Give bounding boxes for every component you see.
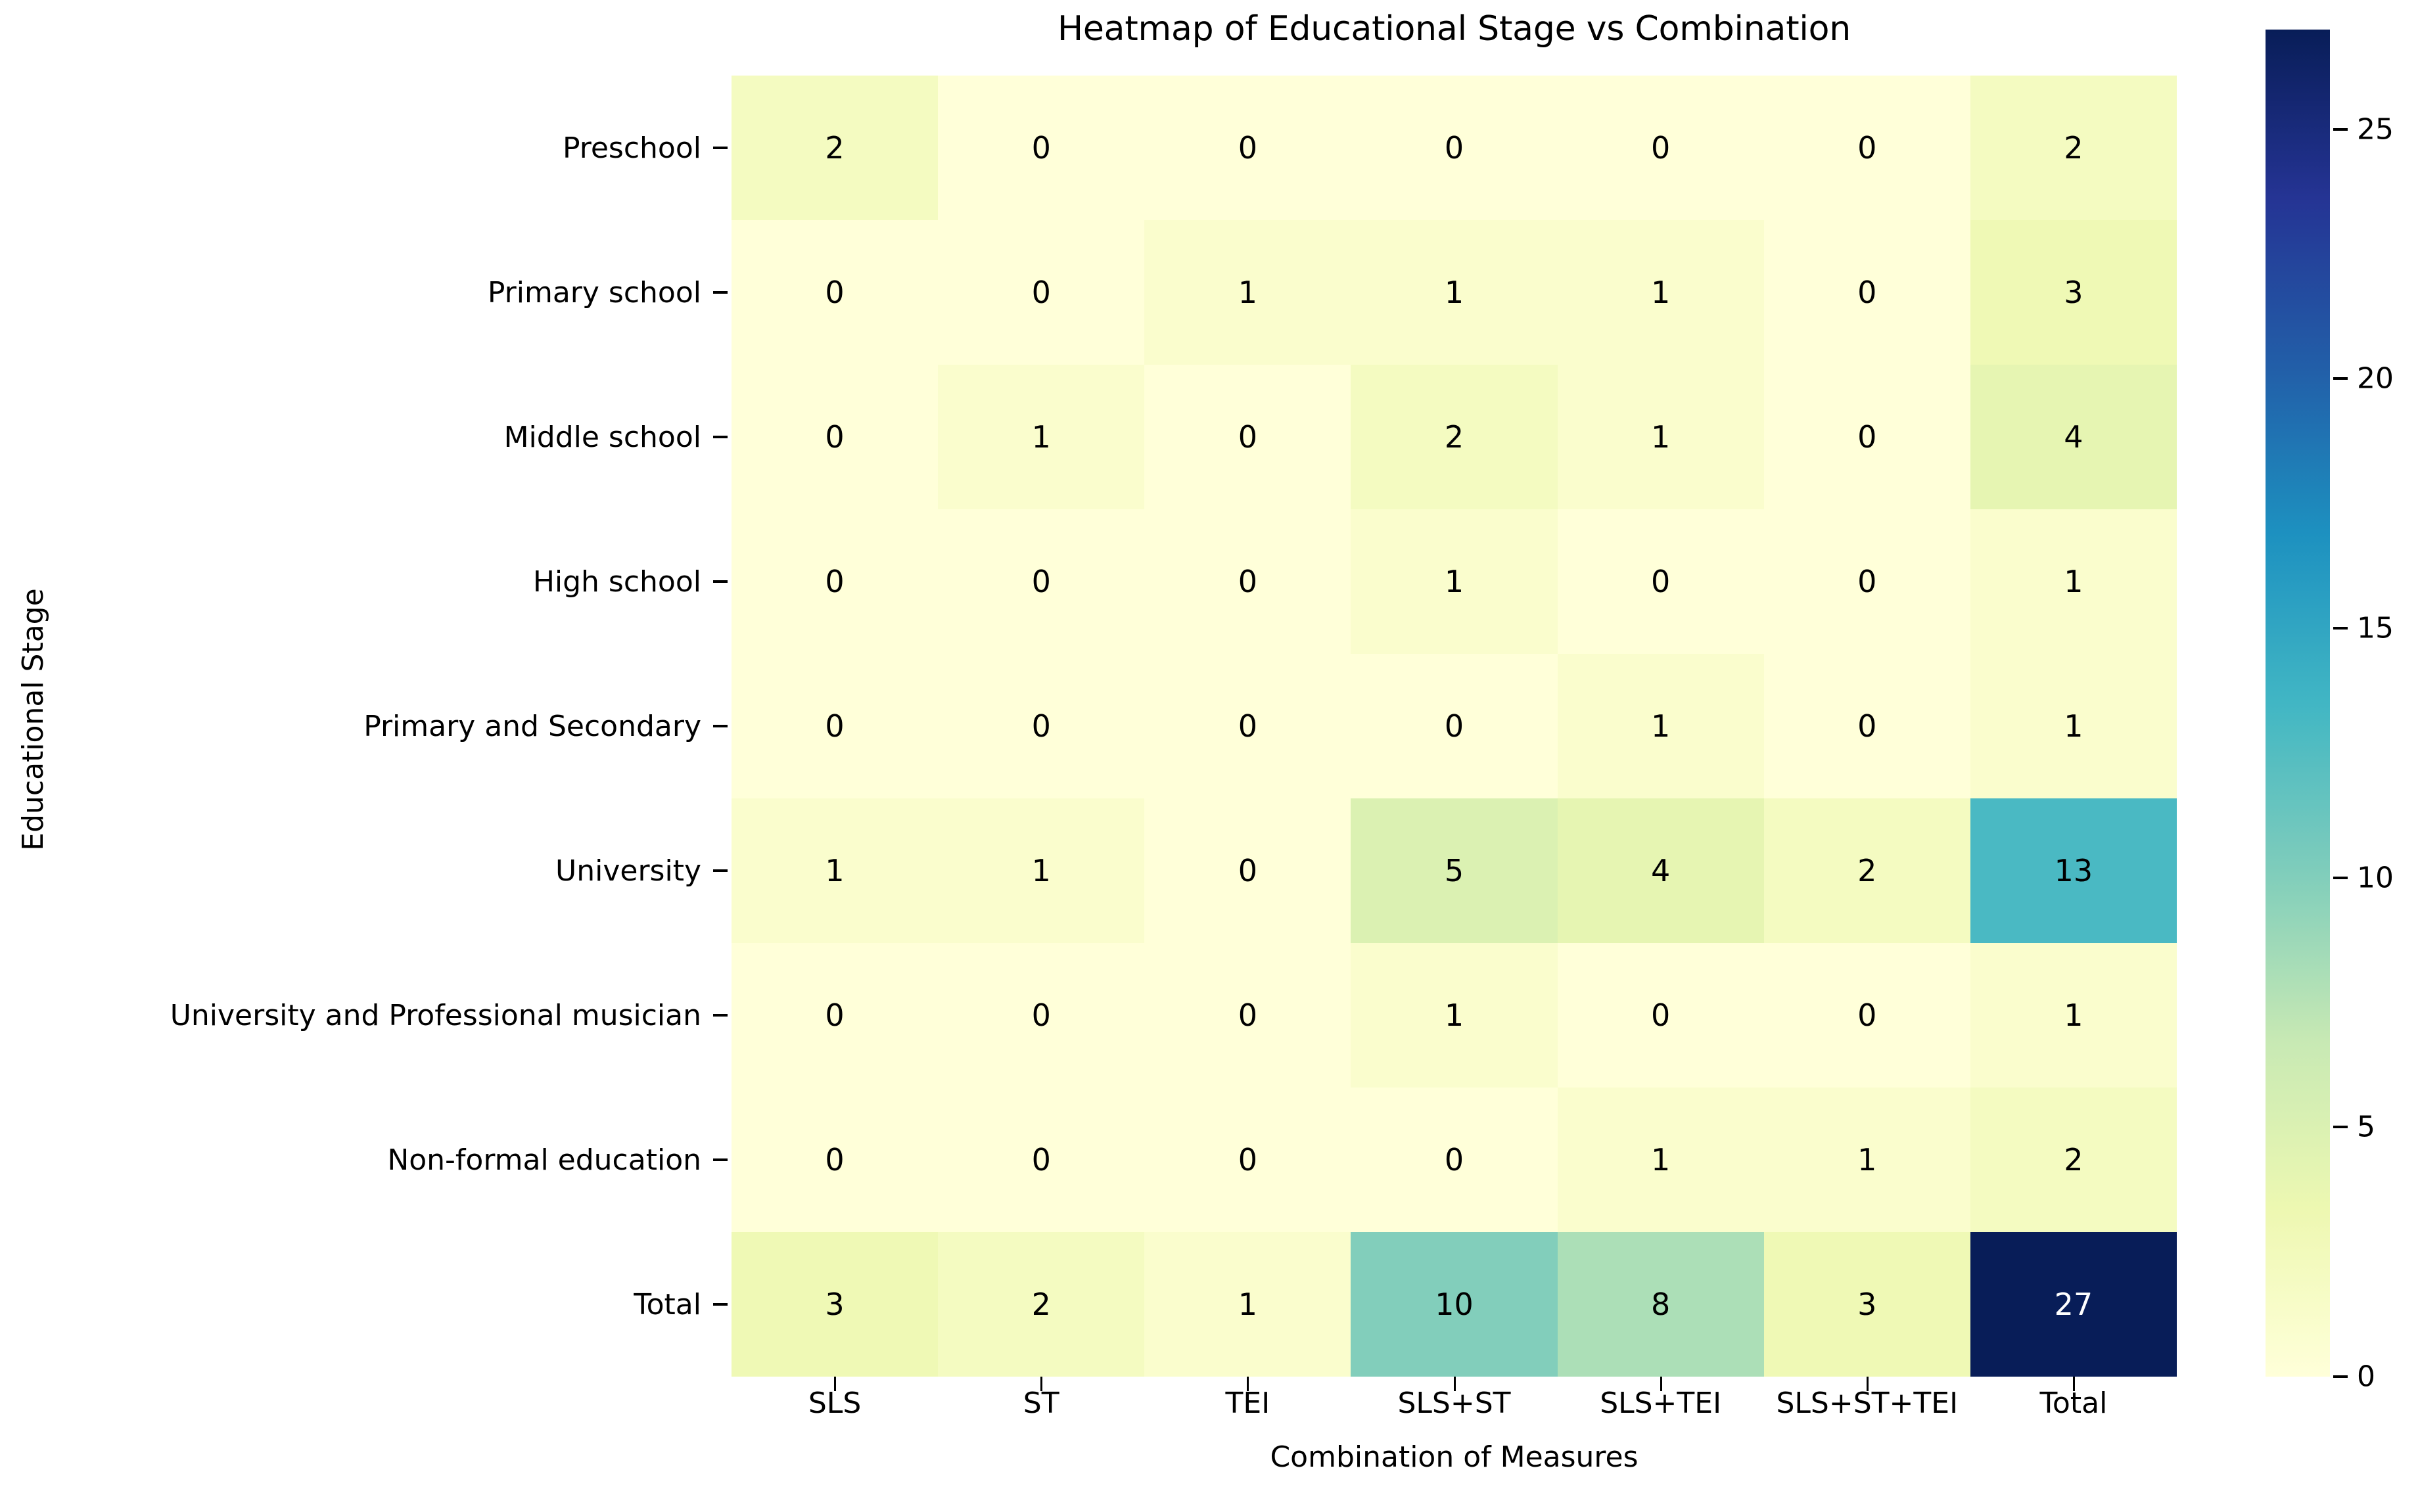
heatmap-cell: 0 — [1144, 76, 1351, 220]
heatmap-cell: 0 — [1144, 1088, 1351, 1232]
heatmap-cell: 5 — [1351, 798, 1557, 943]
heatmap-cell: 0 — [1144, 943, 1351, 1088]
page-title: Heatmap of Educational Stage vs Combinat… — [732, 9, 2177, 49]
y-tick-label: University and Professional musician — [170, 943, 718, 1088]
heatmap-cell: 0 — [1764, 943, 1970, 1088]
y-axis-title-wrapper: Educational Stage — [13, 450, 53, 989]
heatmap-cell: 1 — [1558, 1088, 1764, 1232]
colorbar-tick-label: 25 — [2357, 112, 2394, 146]
heatmap-cell: 0 — [938, 76, 1144, 220]
heatmap-cell: 0 — [1764, 220, 1970, 365]
colorbar-tick-label: 5 — [2357, 1111, 2375, 1144]
y-tick-mark — [713, 725, 728, 727]
x-tick-label: SLS+ST — [1351, 1386, 1558, 1420]
heatmap-cell: 1 — [1558, 654, 1764, 798]
x-tick-label: SLS — [732, 1386, 938, 1420]
heatmap-cell: 1 — [1144, 1232, 1351, 1377]
heatmap-cell: 2 — [938, 1232, 1144, 1377]
heatmap-cell: 0 — [732, 365, 938, 509]
colorbar-tick-mark — [2333, 877, 2348, 879]
colorbar — [2266, 30, 2330, 1377]
heatmap-cell: 0 — [1764, 509, 1970, 654]
y-tick-mark — [713, 291, 728, 294]
heatmap-grid: 2000002001110301021040001001000010111054… — [732, 76, 2177, 1377]
heatmap-cell: 1 — [1351, 220, 1557, 365]
y-tick-label: Primary and Secondary — [363, 654, 718, 798]
heatmap-cell: 1 — [1970, 654, 2177, 798]
colorbar-tick-mark — [2333, 1375, 2348, 1378]
heatmap-cell: 0 — [1764, 365, 1970, 509]
heatmap-cell: 0 — [1351, 76, 1557, 220]
heatmap-cell: 0 — [1144, 365, 1351, 509]
heatmap-cell: 0 — [732, 654, 938, 798]
y-tick-label: Non-formal education — [387, 1088, 718, 1232]
x-tick-label: SLS+TEI — [1558, 1386, 1764, 1420]
x-tick-label: ST — [938, 1386, 1144, 1420]
colorbar-tick-label: 15 — [2357, 612, 2394, 645]
heatmap-cell: 3 — [732, 1232, 938, 1377]
heatmap-cell: 8 — [1558, 1232, 1764, 1377]
heatmap-cell: 1 — [732, 798, 938, 943]
heatmap-cell: 0 — [1351, 654, 1557, 798]
heatmap-cell: 1 — [1970, 509, 2177, 654]
y-tick-label: Preschool — [563, 76, 718, 220]
y-tick-label: Total — [634, 1232, 718, 1377]
x-tick-mark — [1454, 1377, 1456, 1391]
heatmap-cell: 0 — [938, 943, 1144, 1088]
colorbar-tick-label: 10 — [2357, 861, 2394, 894]
heatmap-cell: 4 — [1970, 365, 2177, 509]
colorbar-tick-mark — [2333, 377, 2348, 380]
heatmap-cell: 2 — [1351, 365, 1557, 509]
heatmap-cell: 2 — [1970, 1088, 2177, 1232]
y-axis-title: Educational Stage — [16, 588, 50, 850]
heatmap-cell: 0 — [1144, 654, 1351, 798]
x-tick-mark — [1247, 1377, 1249, 1391]
heatmap-cell: 1 — [938, 798, 1144, 943]
heatmap-cell: 1 — [1764, 1088, 1970, 1232]
heatmap-cell: 0 — [1764, 76, 1970, 220]
x-tick-mark — [1660, 1377, 1662, 1391]
heatmap-cell: 1 — [1558, 365, 1764, 509]
heatmap-cell: 2 — [1970, 76, 2177, 220]
colorbar-tick-label: 0 — [2357, 1360, 2375, 1394]
heatmap-cell: 0 — [938, 509, 1144, 654]
y-tick-mark — [713, 436, 728, 438]
heatmap-cell: 0 — [1558, 943, 1764, 1088]
heatmap-cell: 10 — [1351, 1232, 1557, 1377]
x-tick-mark — [2073, 1377, 2075, 1391]
heatmap-cell: 3 — [1764, 1232, 1970, 1377]
heatmap-cell: 1 — [1144, 220, 1351, 365]
heatmap-cell: 0 — [938, 1088, 1144, 1232]
x-tick-mark — [1040, 1377, 1042, 1391]
x-tick-label: SLS+ST+TEI — [1764, 1386, 1970, 1420]
y-tick-mark — [713, 1303, 728, 1306]
colorbar-tick-mark — [2333, 1126, 2348, 1128]
heatmap-cell: 0 — [1144, 798, 1351, 943]
y-tick-label: University — [555, 798, 718, 943]
y-tick-mark — [713, 147, 728, 149]
heatmap-cell: 0 — [1558, 509, 1764, 654]
y-tick-label: Middle school — [504, 365, 718, 509]
heatmap-cell: 0 — [1558, 76, 1764, 220]
heatmap-cell: 0 — [1144, 509, 1351, 654]
y-tick-label: High school — [533, 509, 718, 654]
colorbar-tick-mark — [2333, 128, 2348, 131]
colorbar-tick-mark — [2333, 627, 2348, 630]
x-axis-title: Combination of Measures — [732, 1440, 2177, 1474]
heatmap-cell: 0 — [1351, 1088, 1557, 1232]
heatmap-cell: 4 — [1558, 798, 1764, 943]
colorbar-tick-label: 20 — [2357, 362, 2394, 396]
heatmap-cell: 1 — [1970, 943, 2177, 1088]
x-tick-label: Total — [1970, 1386, 2177, 1420]
x-tick-mark — [1867, 1377, 1869, 1391]
heatmap-cell: 2 — [1764, 798, 1970, 943]
y-tick-label: Primary school — [488, 220, 718, 365]
heatmap-cell: 1 — [1351, 943, 1557, 1088]
heatmap-cell: 0 — [1764, 654, 1970, 798]
heatmap-cell: 1 — [1351, 509, 1557, 654]
y-tick-mark — [713, 869, 728, 872]
heatmap-cell: 0 — [938, 220, 1144, 365]
heatmap-cell: 3 — [1970, 220, 2177, 365]
x-tick-label: TEI — [1144, 1386, 1351, 1420]
heatmap-cell: 2 — [732, 76, 938, 220]
heatmap-cell: 0 — [732, 220, 938, 365]
heatmap-cell: 0 — [732, 1088, 938, 1232]
heatmap-figure: Heatmap of Educational Stage vs Combinat… — [0, 0, 2418, 1512]
y-tick-mark — [713, 1014, 728, 1017]
y-tick-mark — [713, 580, 728, 583]
heatmap-cell: 1 — [1558, 220, 1764, 365]
heatmap-cell: 0 — [732, 943, 938, 1088]
heatmap-cell: 13 — [1970, 798, 2177, 943]
heatmap-cell: 1 — [938, 365, 1144, 509]
y-tick-mark — [713, 1158, 728, 1161]
heatmap-cell: 0 — [732, 509, 938, 654]
heatmap-cell: 27 — [1970, 1232, 2177, 1377]
x-tick-mark — [834, 1377, 836, 1391]
colorbar-gradient — [2266, 30, 2330, 1377]
heatmap-cell: 0 — [938, 654, 1144, 798]
